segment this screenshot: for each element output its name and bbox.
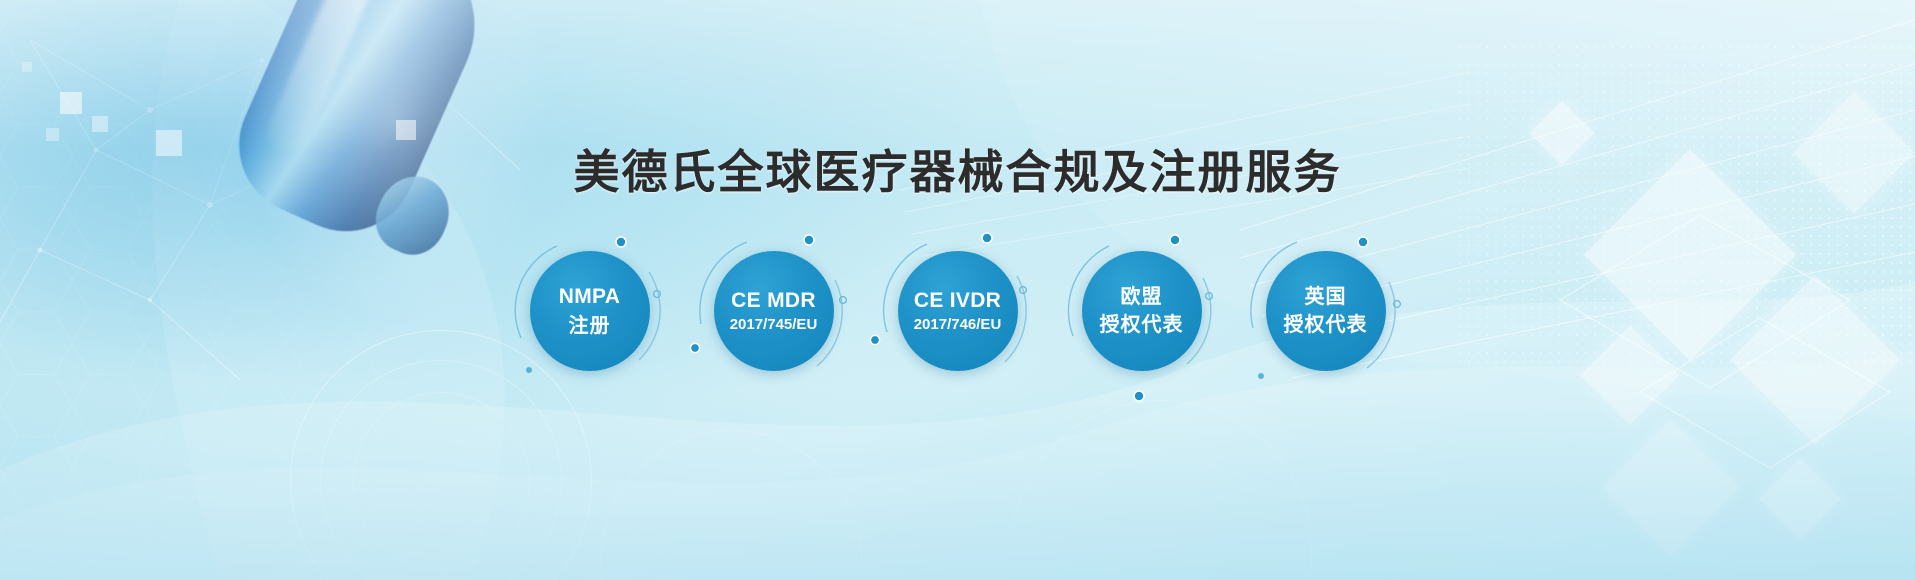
badge-sub-label: 2017/746/EU bbox=[914, 316, 1002, 334]
badge-main-label: CE IVDR bbox=[914, 288, 1001, 314]
badge-circle: 欧盟 授权代表 bbox=[1082, 251, 1202, 371]
badge-circle: NMPA 注册 bbox=[530, 251, 650, 371]
badge-circle: CE MDR 2017/745/EU bbox=[714, 251, 834, 371]
page-title: 美德氏全球医疗器械合规及注册服务 bbox=[0, 136, 1915, 202]
badge-circle: 英国 授权代表 bbox=[1266, 251, 1386, 371]
banner-hero: 美德氏全球医疗器械合规及注册服务 NMPA 注册 bbox=[0, 0, 1915, 580]
badge-main-label: 英国 bbox=[1305, 285, 1347, 309]
badge-sub-label: 2017/745/EU bbox=[730, 316, 818, 334]
badge-main-label: NMPA bbox=[559, 284, 620, 310]
service-badge-ce-ivdr[interactable]: CE IVDR 2017/746/EU bbox=[883, 236, 1033, 386]
badge-sub-label: 注册 bbox=[569, 314, 611, 338]
service-badge-uk-rep[interactable]: 英国 授权代表 bbox=[1251, 236, 1401, 386]
service-badge-nmpa[interactable]: NMPA 注册 bbox=[515, 236, 665, 386]
service-badge-eu-rep[interactable]: 欧盟 授权代表 bbox=[1067, 236, 1217, 386]
badge-main-label: 欧盟 bbox=[1121, 285, 1163, 309]
service-badge-row: NMPA 注册 CE MDR 2017/745/EU bbox=[0, 236, 1915, 386]
badge-sub-label: 授权代表 bbox=[1284, 313, 1368, 337]
service-badge-ce-mdr[interactable]: CE MDR 2017/745/EU bbox=[699, 236, 849, 386]
badge-sub-label: 授权代表 bbox=[1100, 313, 1184, 337]
badge-main-label: CE MDR bbox=[731, 288, 816, 314]
badge-circle: CE IVDR 2017/746/EU bbox=[898, 251, 1018, 371]
